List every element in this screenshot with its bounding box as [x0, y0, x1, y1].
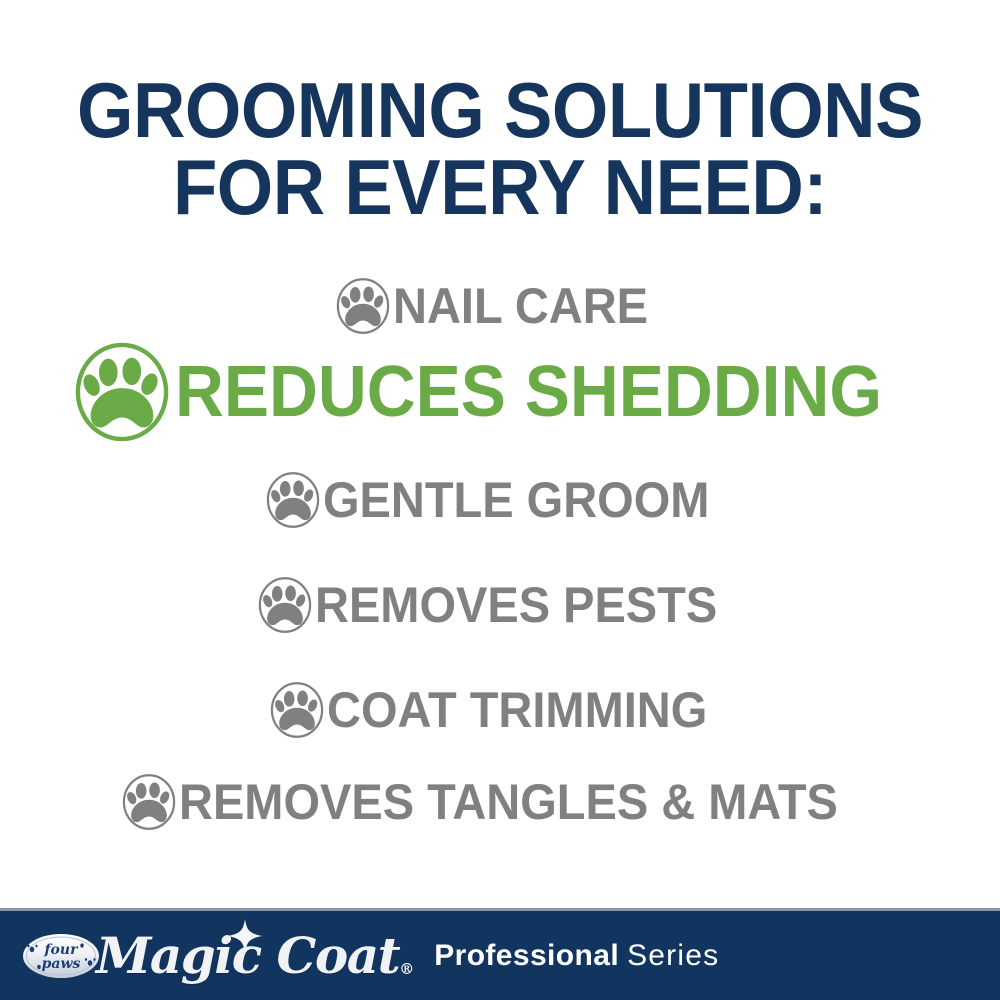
magic-coat-wordmark: Magic Coat® [96, 931, 414, 981]
benefit-item-reduces-shedding: REDUCES SHEDDING [0, 337, 1000, 447]
magic-coat-text: Magic Coat [96, 926, 399, 985]
series-tagline: ProfessionalSeries [434, 941, 719, 971]
page-title-line-2: FOR EVERY NEED: [35, 149, 965, 226]
svg-text:paws: paws [42, 956, 81, 972]
four-paws-oval-badge-icon: four paws [22, 933, 100, 979]
paw-print-icon [265, 471, 321, 529]
page-title-line-1: GROOMING SOLUTIONS [35, 72, 965, 149]
series-label: Series [627, 939, 719, 972]
benefit-item-removes-tangles-and-mats: REMOVES TANGLES & MATS [0, 762, 1000, 842]
brand-lockup: four paws Magic Coat® ProfessionalSeries [22, 931, 719, 981]
paw-print-icon [335, 277, 391, 335]
professional-label: Professional [434, 939, 619, 972]
paw-print-icon [73, 341, 171, 443]
paw-print-icon [269, 681, 325, 739]
benefits-list: NAIL CARE REDUCES SHEDDING [0, 275, 1000, 842]
benefit-label: REMOVES TANGLES & MATS [179, 773, 838, 831]
promotional-poster: GROOMING SOLUTIONS FOR EVERY NEED: NAIL … [0, 0, 1000, 1000]
benefit-label: NAIL CARE [393, 277, 648, 335]
benefit-item-nail-care: NAIL CARE [0, 275, 1000, 337]
brand-footer-bar: four paws Magic Coat® ProfessionalSeries [0, 908, 1000, 1000]
benefit-item-coat-trimming: COAT TRIMMING [0, 657, 1000, 762]
benefit-label: REDUCES SHEDDING [175, 351, 882, 433]
paw-print-icon [257, 576, 313, 634]
page-title: GROOMING SOLUTIONS FOR EVERY NEED: [35, 72, 965, 226]
paw-print-icon [121, 773, 177, 831]
registered-mark: ® [399, 959, 414, 977]
benefit-label: GENTLE GROOM [323, 471, 709, 529]
benefit-item-gentle-groom: GENTLE GROOM [0, 447, 1000, 552]
benefit-label: REMOVES PESTS [315, 576, 717, 634]
benefit-label: COAT TRIMMING [327, 681, 707, 739]
benefit-item-removes-pests: REMOVES PESTS [0, 552, 1000, 657]
